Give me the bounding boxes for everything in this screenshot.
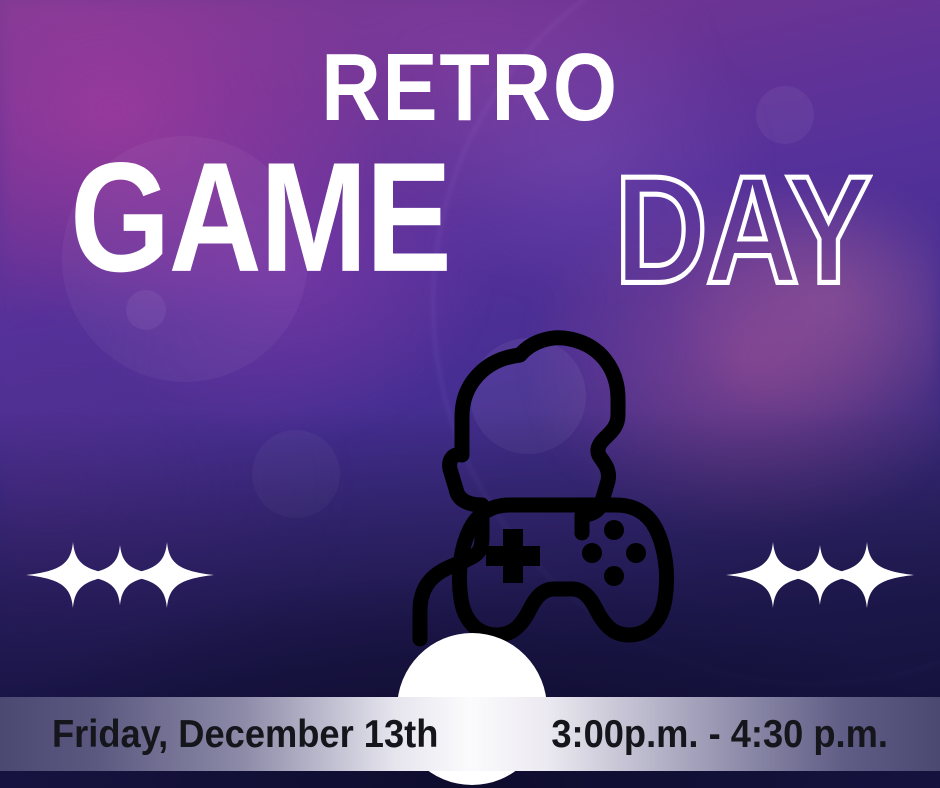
- action-button-top: [604, 520, 624, 540]
- action-button-left: [582, 543, 602, 563]
- sparkle-trio-right: [725, 536, 915, 614]
- sparkle-trio-left: [25, 536, 215, 614]
- sparkle-icon-right-3: [820, 542, 914, 608]
- title-retro: RETRO: [66, 40, 874, 136]
- poster-title-block: RETRO GAME DAY: [0, 0, 940, 299]
- action-button-right: [626, 543, 646, 563]
- dpad-icon: [486, 529, 540, 583]
- title-second-line: GAME DAY: [0, 144, 940, 299]
- title-day-outline: DAY: [615, 158, 870, 302]
- sparkle-icon-group-right: [725, 536, 915, 614]
- sparkle-icon-left-3: [120, 542, 214, 608]
- gamer-illustration-svg: [300, 305, 680, 655]
- game-controller-body-path: [459, 505, 666, 635]
- gamer-with-controller-illustration: [300, 305, 680, 655]
- sparkle-icon-group-left: [25, 536, 215, 614]
- controller-buttons-group: [486, 520, 646, 586]
- event-details-banner: Friday, December 13th 3:00p.m. - 4:30 p.…: [0, 697, 940, 771]
- title-game: GAME: [70, 144, 450, 291]
- event-time-text: 3:00p.m. - 4:30 p.m.: [551, 715, 888, 754]
- action-button-bottom: [604, 566, 624, 586]
- event-date-text: Friday, December 13th: [52, 715, 438, 754]
- retro-game-day-poster: RETRO GAME DAY: [0, 0, 940, 788]
